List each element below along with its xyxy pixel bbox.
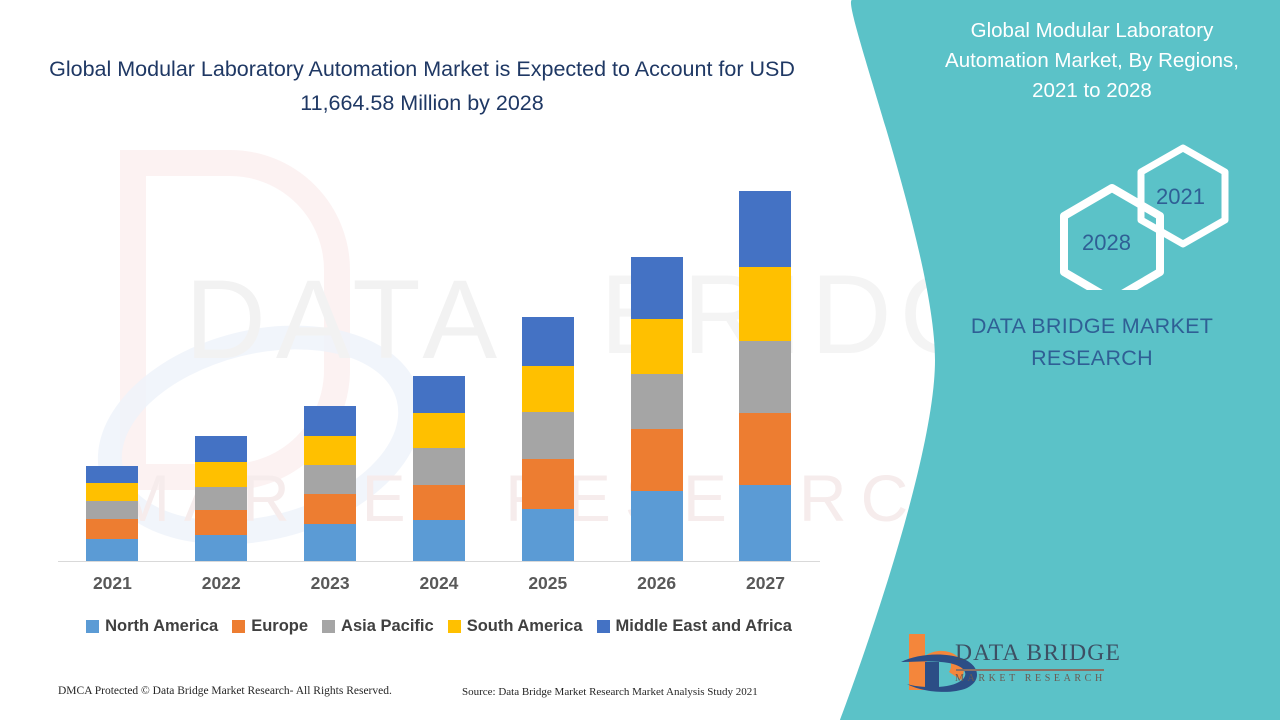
bar-segment <box>195 510 247 535</box>
bar-segment <box>631 374 683 429</box>
bar-segment <box>304 465 356 494</box>
bar-segment <box>195 487 247 510</box>
bar-segment <box>522 412 574 459</box>
source-notice: Source: Data Bridge Market Research Mark… <box>462 686 758 698</box>
chart-legend: North AmericaEuropeAsia PacificSouth Ame… <box>58 617 820 636</box>
bar-column <box>711 150 819 561</box>
stacked-bar <box>739 191 791 561</box>
legend-item[interactable]: Middle East and Africa <box>597 617 792 636</box>
legend-label: Asia Pacific <box>341 617 434 636</box>
bar-segment <box>522 459 574 509</box>
stacked-bar <box>413 376 465 561</box>
hexagon-front-label: 2028 <box>1082 230 1131 256</box>
bar-segment <box>522 317 574 366</box>
x-axis-line <box>58 561 820 562</box>
bar-segment <box>522 509 574 561</box>
bar-segment <box>195 535 247 561</box>
bar-segment <box>304 524 356 561</box>
logo-wordmark: DATA BRIDGE MARKET RESEARCH <box>955 640 1121 684</box>
bar-segment <box>631 257 683 319</box>
x-axis-labels: 2021202220232024202520262027 <box>58 573 820 594</box>
logo-name: DATA BRIDGE <box>955 640 1121 667</box>
bar-segment <box>304 436 356 465</box>
bar-segment <box>631 429 683 491</box>
legend-swatch-icon <box>597 620 610 633</box>
bar-segment <box>739 413 791 485</box>
legend-item[interactable]: Europe <box>232 617 308 636</box>
bar-column <box>603 150 711 561</box>
bar-segment <box>304 406 356 436</box>
bar-column <box>58 150 166 561</box>
bar-segment <box>631 319 683 374</box>
x-axis-label: 2027 <box>711 573 819 594</box>
legend-item[interactable]: Asia Pacific <box>322 617 434 636</box>
stacked-bar <box>631 257 683 561</box>
bar-segment <box>86 519 138 539</box>
x-axis-label: 2024 <box>385 573 493 594</box>
hexagon-back-label: 2021 <box>1156 184 1205 210</box>
panel-title: Global Modular Laboratory Automation Mar… <box>922 16 1262 106</box>
bar-segment <box>86 466 138 483</box>
x-axis-label: 2021 <box>58 573 166 594</box>
bar-segment <box>739 267 791 341</box>
bar-segment <box>413 485 465 520</box>
bar-column <box>167 150 275 561</box>
page-title: Global Modular Laboratory Automation Mar… <box>42 52 802 120</box>
x-axis-label: 2025 <box>494 573 602 594</box>
bar-column <box>494 150 602 561</box>
copyright-notice: DMCA Protected © Data Bridge Market Rese… <box>58 685 392 697</box>
x-axis-label: 2022 <box>167 573 275 594</box>
bar-segment <box>522 366 574 412</box>
bar-segment <box>86 501 138 519</box>
bar-segment <box>631 491 683 561</box>
bar-segment <box>413 448 465 485</box>
bar-segment <box>739 485 791 561</box>
legend-swatch-icon <box>322 620 335 633</box>
x-axis-label: 2026 <box>603 573 711 594</box>
logo-tagline: MARKET RESEARCH <box>955 673 1121 684</box>
bar-segment <box>413 413 465 448</box>
bar-segment <box>86 539 138 561</box>
legend-label: Middle East and Africa <box>616 617 792 636</box>
stacked-bar <box>522 317 574 561</box>
legend-label: Europe <box>251 617 308 636</box>
x-axis-label: 2023 <box>276 573 384 594</box>
logo-divider <box>956 669 1104 671</box>
stacked-bar <box>195 436 247 561</box>
legend-swatch-icon <box>448 620 461 633</box>
legend-swatch-icon <box>232 620 245 633</box>
bar-segment <box>86 483 138 501</box>
stacked-bar <box>304 406 356 561</box>
bar-segment <box>413 520 465 561</box>
bar-segment <box>195 436 247 462</box>
stacked-bar <box>86 466 138 561</box>
legend-item[interactable]: South America <box>448 617 583 636</box>
legend-item[interactable]: North America <box>86 617 218 636</box>
chart-infographic: DATA BRIDGE MARKET RESEARCH Global Modul… <box>0 0 1280 720</box>
hexagon-outlines <box>840 140 1280 290</box>
bar-segment <box>413 376 465 413</box>
bar-segment <box>739 341 791 413</box>
bar-column <box>276 150 384 561</box>
stacked-bar-series <box>58 150 820 561</box>
bar-segment <box>195 462 247 487</box>
bar-segment <box>304 494 356 524</box>
hexagon-group: 2021 2028 <box>840 140 1280 290</box>
legend-swatch-icon <box>86 620 99 633</box>
legend-label: North America <box>105 617 218 636</box>
panel-brand-text: DATA BRIDGE MARKET RESEARCH <box>922 310 1262 374</box>
bar-column <box>385 150 493 561</box>
bar-segment <box>739 191 791 267</box>
legend-label: South America <box>467 617 583 636</box>
